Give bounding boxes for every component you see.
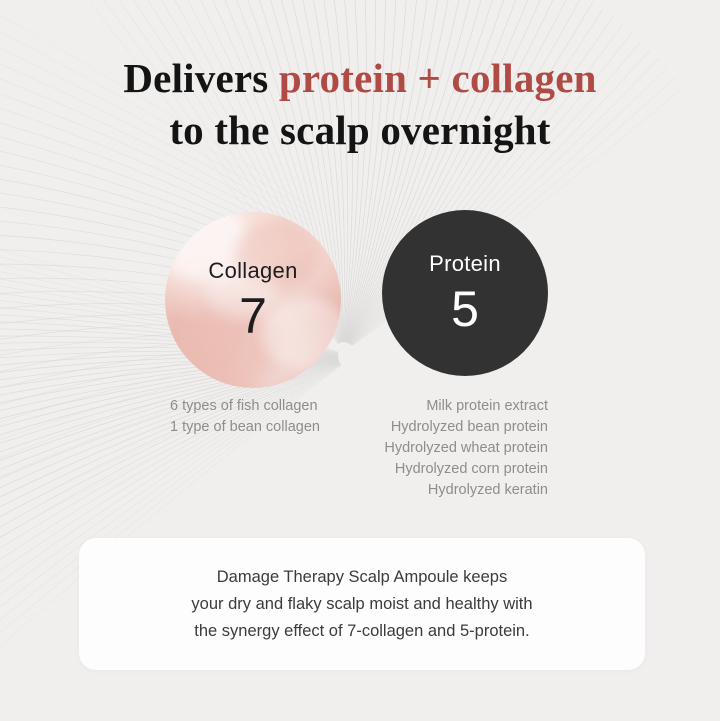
list-item: Hydrolyzed corn protein [384,459,548,480]
list-item: Hydrolyzed bean protein [384,417,548,438]
headline-line1-plain: Delivers [123,55,279,101]
collagen-ingredient-list: 6 types of fish collagen1 type of bean c… [170,396,320,438]
protein-circle: Protein 5 [382,210,548,376]
headline-line1-accent: protein + collagen [279,55,597,101]
protein-circle-number: 5 [451,284,479,334]
list-item: Hydrolyzed keratin [384,480,548,501]
stat-circles: Collagen 7 Protein 5 [0,210,720,386]
protein-circle-title: Protein [429,253,501,275]
list-item: Hydrolyzed wheat protein [384,438,548,459]
list-item: 6 types of fish collagen [170,396,320,417]
list-item: 1 type of bean collagen [170,417,320,438]
collagen-circle: Collagen 7 [165,212,341,388]
headline-line2: to the scalp overnight [0,104,720,156]
page-title: Delivers protein + collagen to the scalp… [0,52,720,156]
description-line: the synergy effect of 7-collagen and 5-p… [191,618,532,645]
description-card-text: Damage Therapy Scalp Ampoule keepsyour d… [191,564,532,645]
description-line: Damage Therapy Scalp Ampoule keeps [191,564,532,591]
collagen-circle-title: Collagen [208,260,297,282]
list-item: Milk protein extract [384,396,548,417]
description-card: Damage Therapy Scalp Ampoule keepsyour d… [79,538,645,670]
promo-banner: Delivers protein + collagen to the scalp… [0,0,720,721]
collagen-circle-number: 7 [239,291,267,341]
protein-ingredient-list: Milk protein extractHydrolyzed bean prot… [384,396,548,501]
gel-blob-4 [261,298,341,370]
description-line: your dry and flaky scalp moist and healt… [191,591,532,618]
